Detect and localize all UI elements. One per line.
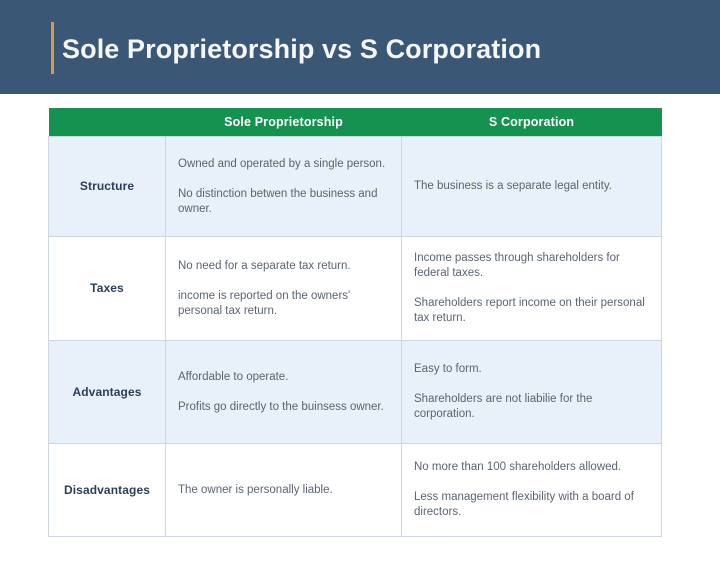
paragraph: Affordable to operate. xyxy=(178,370,389,385)
page-title: Sole Proprietorship vs S Corporation xyxy=(62,32,541,66)
cell-advantages-sole: Affordable to operate. Profits go direct… xyxy=(166,341,402,444)
comparison-table: Sole Proprietorship S Corporation Struct… xyxy=(48,108,662,537)
row-label-structure: Structure xyxy=(49,137,166,237)
paragraph: No more than 100 shareholders allowed. xyxy=(414,460,649,475)
table-header-sole-proprietorship: Sole Proprietorship xyxy=(166,108,402,137)
slide-header-banner: Sole Proprietorship vs S Corporation xyxy=(0,0,720,94)
table-header-row: Sole Proprietorship S Corporation xyxy=(49,108,662,137)
table-header-blank xyxy=(49,108,166,137)
paragraph: Shareholders report income on their pers… xyxy=(414,296,649,326)
row-label-taxes: Taxes xyxy=(49,237,166,341)
paragraph: Shareholders are not liabilie for the co… xyxy=(414,392,649,422)
cell-taxes-scorp: Income passes through shareholders for f… xyxy=(402,237,662,341)
table-row: Disadvantages The owner is personally li… xyxy=(49,444,662,537)
paragraph: Owned and operated by a single person. xyxy=(178,157,389,172)
table-header-s-corporation: S Corporation xyxy=(402,108,662,137)
paragraph: Less management flexibility with a board… xyxy=(414,490,649,520)
table-row: Taxes No need for a separate tax return.… xyxy=(49,237,662,341)
title-accent-bar xyxy=(51,22,54,74)
cell-disadvantages-scorp: No more than 100 shareholders allowed. L… xyxy=(402,444,662,537)
cell-disadvantages-sole: The owner is personally liable. xyxy=(166,444,402,537)
cell-taxes-sole: No need for a separate tax return. incom… xyxy=(166,237,402,341)
row-label-disadvantages: Disadvantages xyxy=(49,444,166,537)
paragraph: Profits go directly to the buinsess owne… xyxy=(178,400,389,415)
cell-advantages-scorp: Easy to form. Shareholders are not liabi… xyxy=(402,341,662,444)
table-row: Structure Owned and operated by a single… xyxy=(49,137,662,237)
paragraph: The business is a separate legal entity. xyxy=(414,179,649,194)
paragraph: Easy to form. xyxy=(414,362,649,377)
cell-structure-sole: Owned and operated by a single person. N… xyxy=(166,137,402,237)
row-label-advantages: Advantages xyxy=(49,341,166,444)
paragraph: Income passes through shareholders for f… xyxy=(414,251,649,281)
paragraph: The owner is personally liable. xyxy=(178,483,389,498)
paragraph: No distinction betwen the business and o… xyxy=(178,187,389,217)
cell-structure-scorp: The business is a separate legal entity. xyxy=(402,137,662,237)
paragraph: income is reported on the owners' person… xyxy=(178,289,389,319)
table-row: Advantages Affordable to operate. Profit… xyxy=(49,341,662,444)
paragraph: No need for a separate tax return. xyxy=(178,259,389,274)
